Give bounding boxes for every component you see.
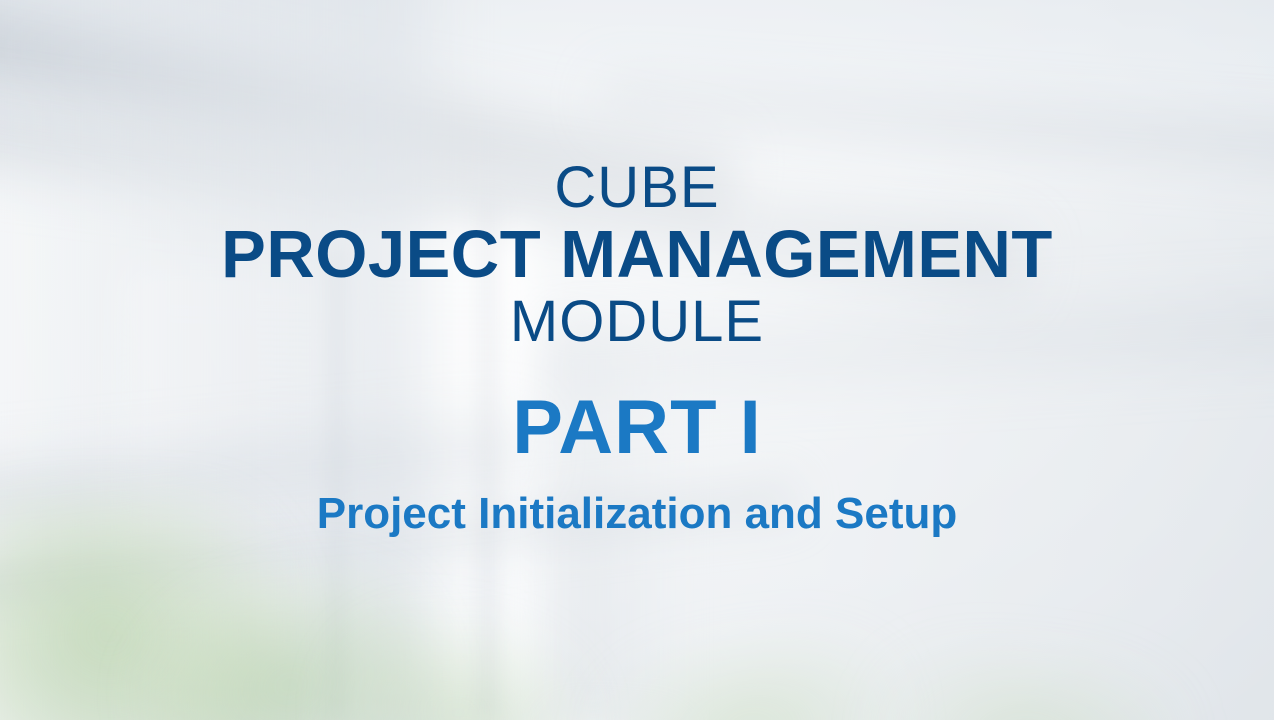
title-block: CUBE PROJECT MANAGEMENT MODULE PART I Pr… — [0, 158, 1274, 539]
title-part: PART I — [0, 388, 1274, 468]
title-caption: Project Initialization and Setup — [0, 490, 1274, 538]
title-eyebrow: CUBE — [0, 158, 1274, 217]
background-plant — [590, 620, 909, 720]
background-plant — [113, 534, 466, 720]
title-slide: CUBE PROJECT MANAGEMENT MODULE PART I Pr… — [0, 0, 1274, 720]
title-module: MODULE — [0, 292, 1274, 352]
background-plant — [315, 595, 605, 720]
background-plant — [873, 640, 1187, 720]
page-title: PROJECT MANAGEMENT — [0, 219, 1274, 290]
